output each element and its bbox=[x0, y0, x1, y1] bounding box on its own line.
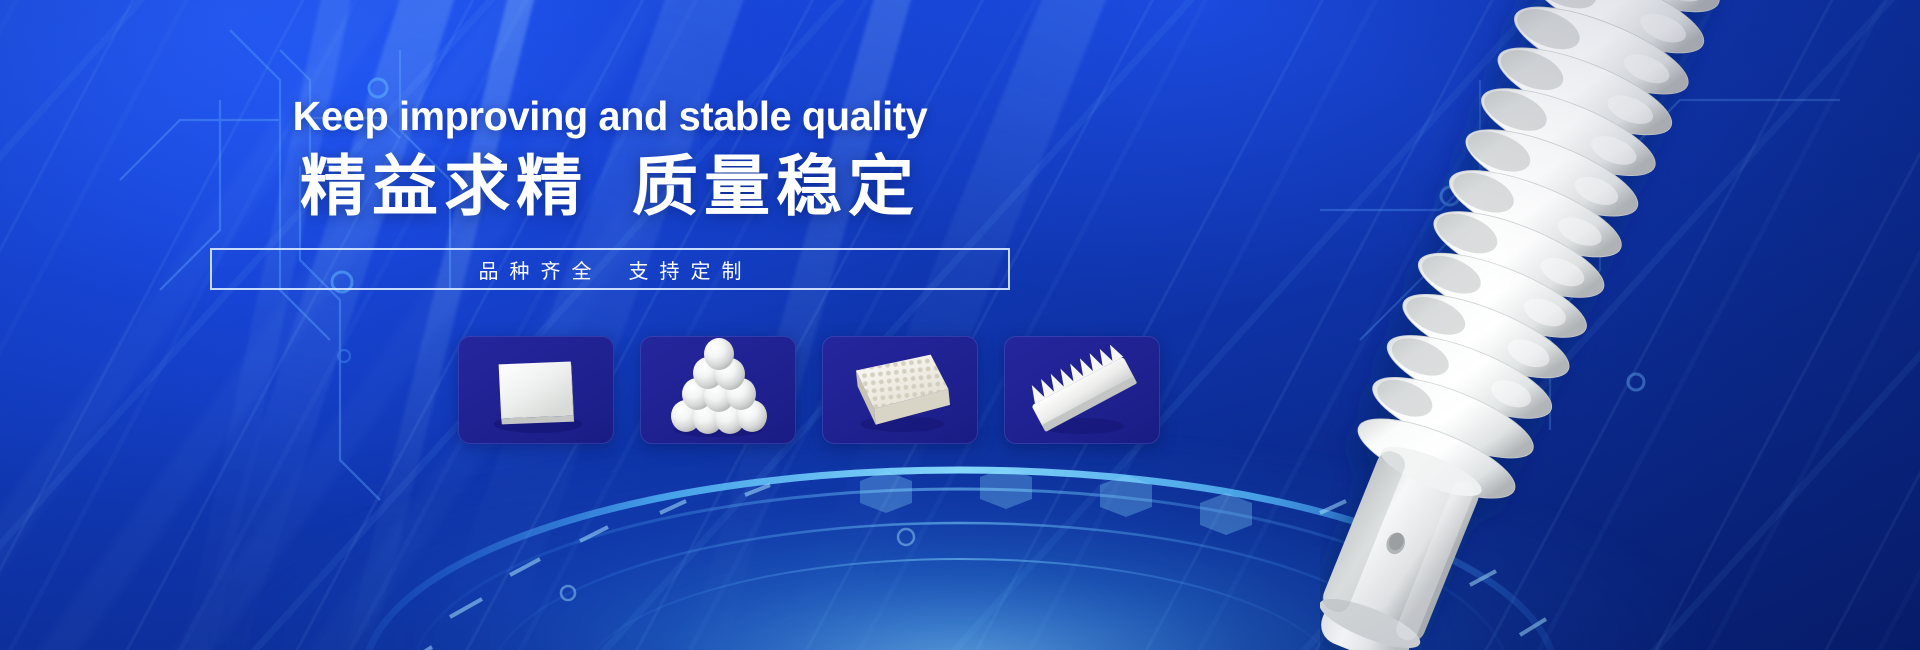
promo-banner: Keep improving and stable quality 精益求精质量… bbox=[0, 0, 1920, 650]
vignette-overlay bbox=[0, 0, 1920, 650]
